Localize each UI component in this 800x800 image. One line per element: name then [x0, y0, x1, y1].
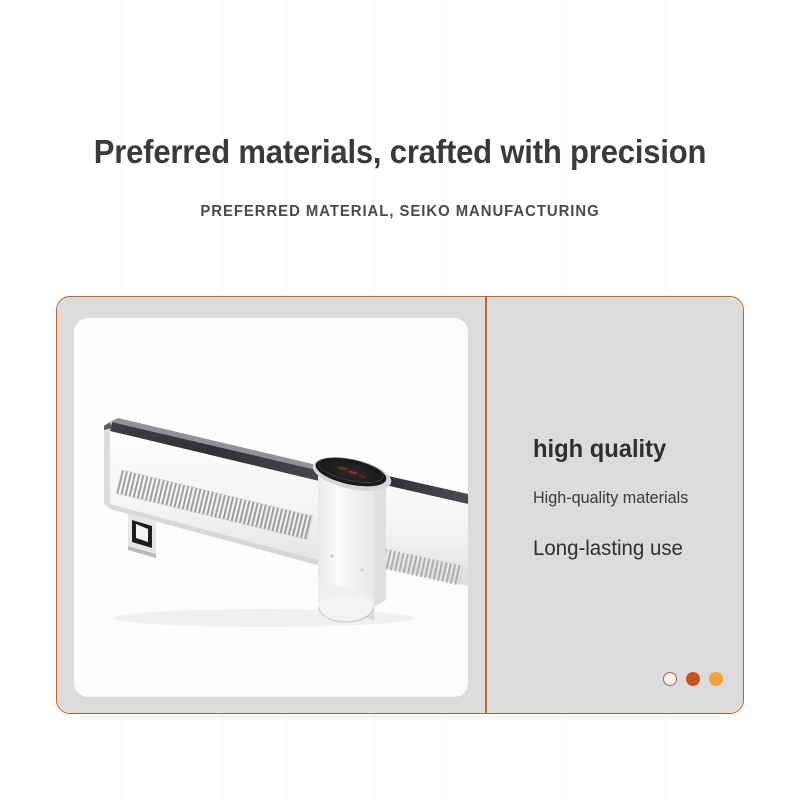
feature-text-stack: high quality High-quality materials Long… — [533, 434, 733, 561]
pagination-dot-1[interactable] — [663, 672, 677, 686]
feature-title: high quality — [533, 434, 723, 464]
product-illustration — [74, 318, 468, 697]
product-photo-plate — [74, 318, 468, 697]
feature-text-panel: high quality High-quality materials Long… — [487, 297, 743, 713]
heading-block: Preferred materials, crafted with precis… — [0, 0, 800, 222]
pagination-dot-2[interactable] — [686, 672, 700, 686]
pagination-dot-3[interactable] — [709, 672, 723, 686]
feature-subtitle: High-quality materials — [533, 464, 723, 509]
feature-card[interactable]: high quality High-quality materials Long… — [56, 296, 744, 714]
pagination-dots[interactable] — [663, 672, 723, 686]
product-image-panel[interactable] — [57, 297, 485, 713]
page-subtitle: PREFERRED MATERIAL, SEIKO MANUFACTURING — [16, 172, 784, 222]
feature-note: Long-lasting use — [533, 509, 723, 561]
page-title: Preferred materials, crafted with precis… — [24, 0, 776, 172]
